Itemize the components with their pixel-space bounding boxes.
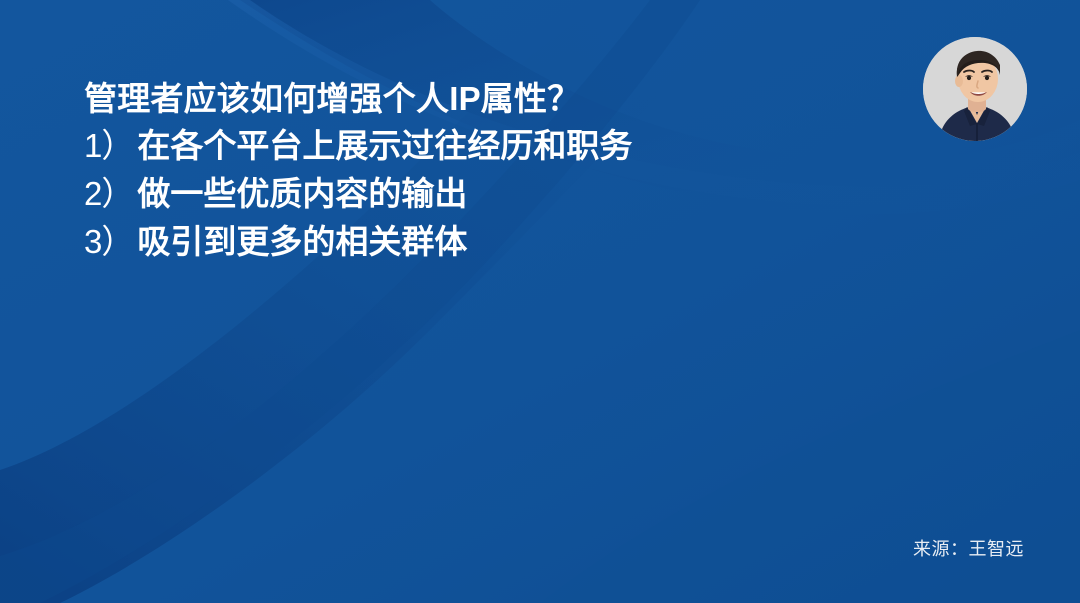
- person-portrait-avatar-icon: [923, 37, 1027, 141]
- presentation-slide: 管理者应该如何增强个人IP属性？ 1） 在各个平台上展示过往经历和职务 2） 做…: [0, 0, 1080, 603]
- list-item-marker: 2）: [84, 170, 133, 218]
- list-item: 3） 吸引到更多的相关群体: [84, 218, 864, 266]
- list-item-label: 吸引到更多的相关群体: [137, 218, 467, 266]
- list-item-label: 做一些优质内容的输出: [137, 170, 467, 218]
- list-item: 2） 做一些优质内容的输出: [84, 170, 864, 218]
- slide-text-block: 管理者应该如何增强个人IP属性？ 1） 在各个平台上展示过往经历和职务 2） 做…: [84, 76, 864, 266]
- list-item: 1） 在各个平台上展示过往经历和职务: [84, 122, 864, 170]
- slide-title: 管理者应该如何增强个人IP属性？: [84, 76, 864, 122]
- bullet-list: 1） 在各个平台上展示过往经历和职务 2） 做一些优质内容的输出 3） 吸引到更…: [84, 122, 864, 266]
- list-item-marker: 1）: [84, 122, 133, 170]
- avatar: [923, 37, 1027, 141]
- source-note: 来源：王智远: [913, 539, 1024, 559]
- list-item-marker: 3）: [84, 218, 133, 266]
- list-item-label: 在各个平台上展示过往经历和职务: [137, 122, 632, 170]
